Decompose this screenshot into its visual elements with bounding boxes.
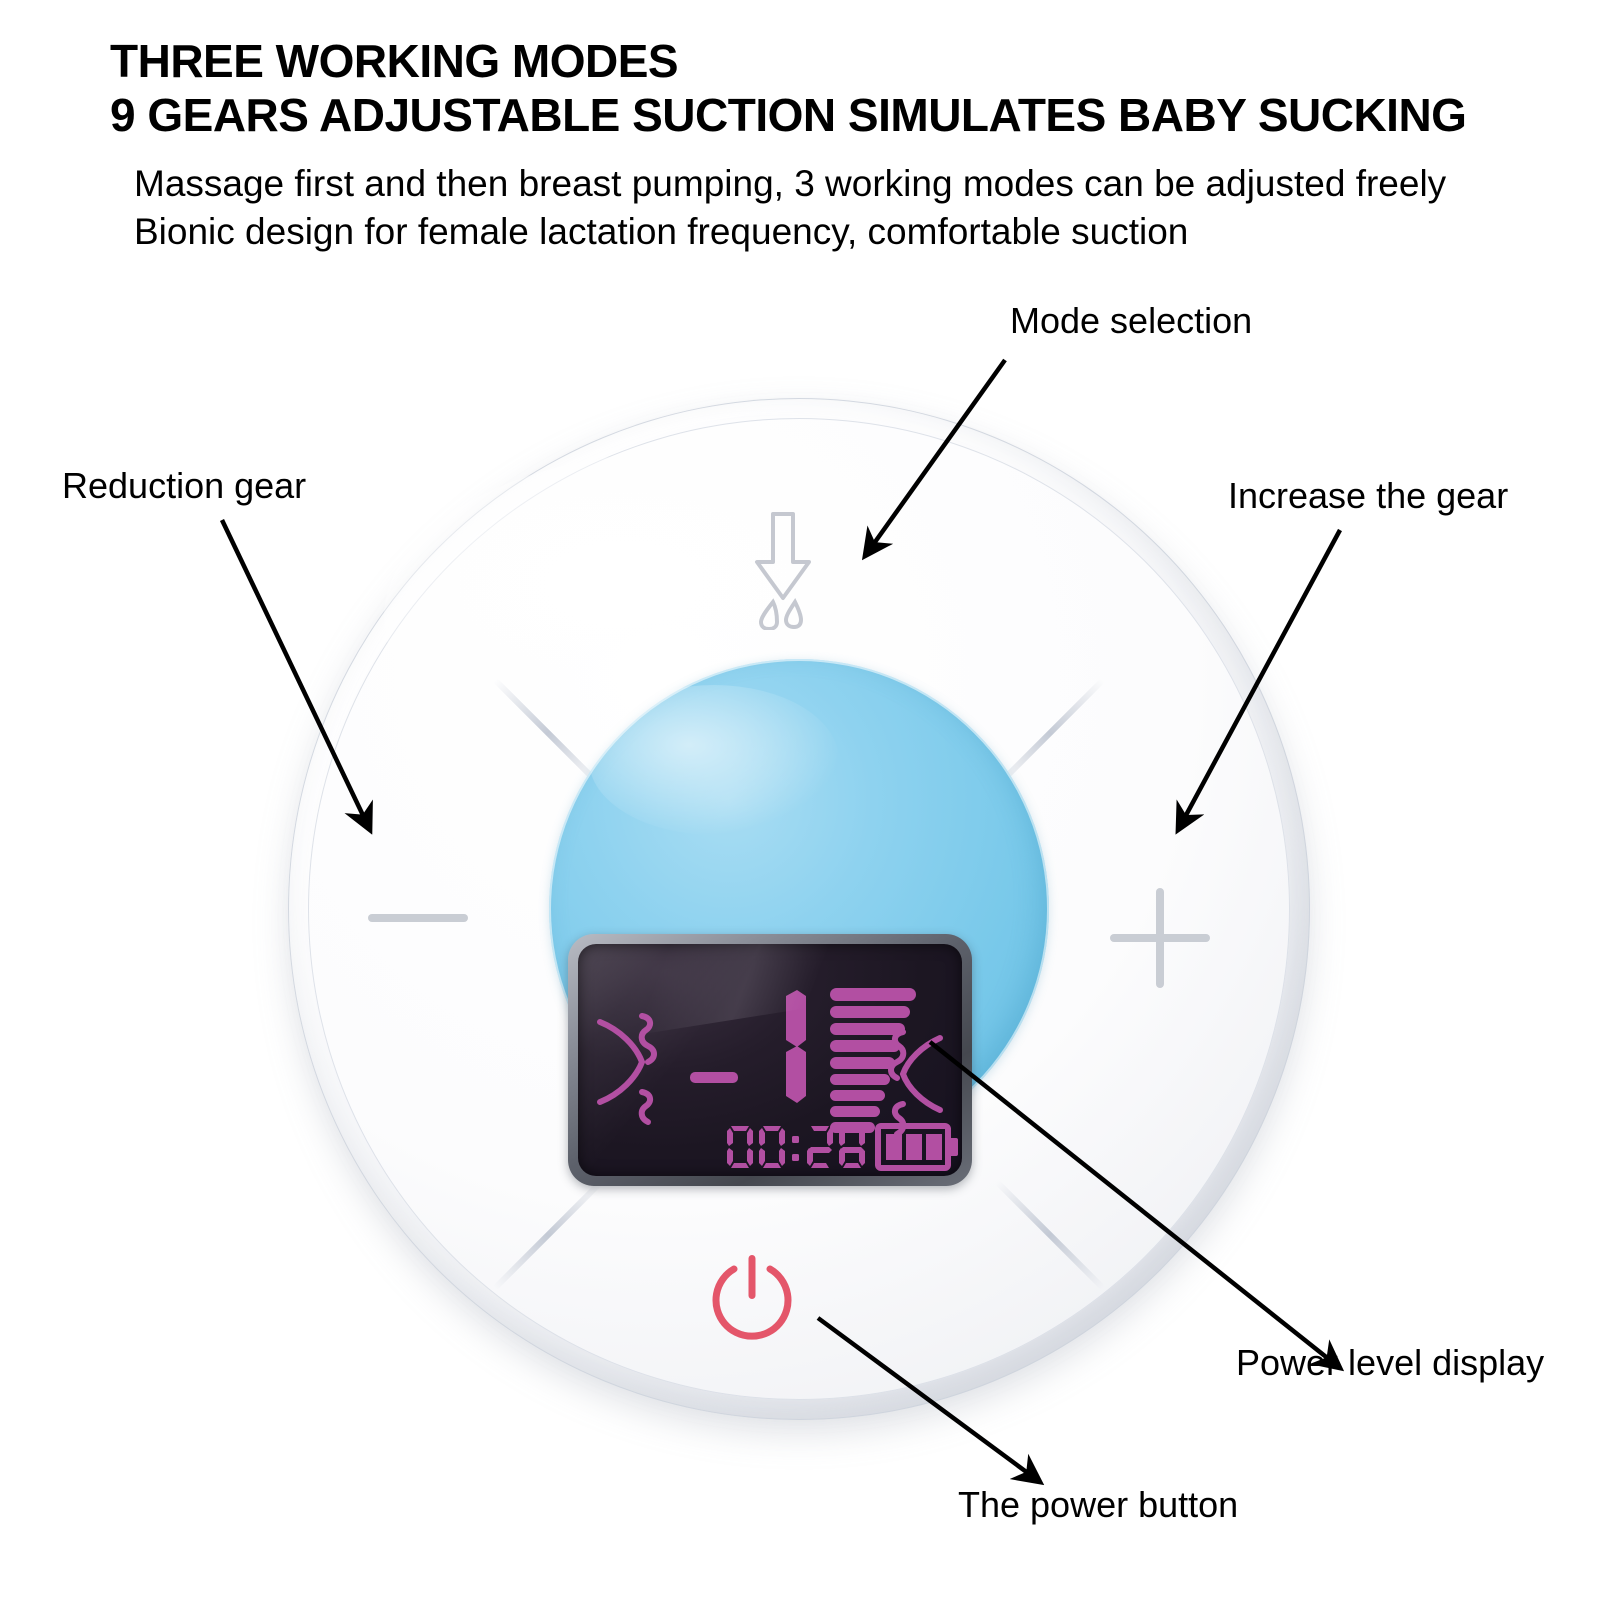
power-button[interactable] bbox=[700, 1243, 804, 1347]
mode-dash-segment bbox=[690, 1072, 738, 1083]
subheading-line-2: Bionic design for female lactation frequ… bbox=[134, 208, 1554, 256]
minus-icon bbox=[358, 898, 478, 938]
mode-droplet-arrow-icon bbox=[735, 510, 831, 630]
mode-select-button[interactable] bbox=[735, 510, 831, 630]
label-mode-selection: Mode selection bbox=[1010, 300, 1252, 342]
power-icon bbox=[700, 1243, 804, 1347]
timer-readout bbox=[727, 1126, 865, 1168]
lcd-content bbox=[578, 944, 962, 1176]
heading-line-2: 9 GEARS ADJUSTABLE SUCTION SIMULATES BAB… bbox=[110, 88, 1550, 142]
mode-digit-1 bbox=[786, 990, 806, 1103]
label-power-button: The power button bbox=[958, 1484, 1238, 1526]
plus-button[interactable] bbox=[1100, 878, 1220, 998]
breast-massage-icon bbox=[600, 1016, 654, 1122]
lcd-bezel bbox=[568, 934, 972, 1186]
subheading-block: Massage first and then breast pumping, 3… bbox=[134, 160, 1554, 256]
breast-pump-icon bbox=[891, 1032, 940, 1134]
label-power-level-display: Power level display bbox=[1236, 1342, 1544, 1384]
breast-pump-device bbox=[288, 398, 1310, 1420]
disc-highlight bbox=[589, 685, 839, 835]
battery-indicator bbox=[878, 1126, 958, 1168]
heading-line-1: THREE WORKING MODES bbox=[110, 34, 1550, 88]
infographic-canvas: THREE WORKING MODES 9 GEARS ADJUSTABLE S… bbox=[0, 0, 1601, 1601]
minus-button[interactable] bbox=[358, 898, 478, 938]
subheading-line-1: Massage first and then breast pumping, 3… bbox=[134, 160, 1554, 208]
heading-block: THREE WORKING MODES 9 GEARS ADJUSTABLE S… bbox=[110, 34, 1550, 142]
lcd-display bbox=[578, 944, 962, 1176]
label-reduction-gear: Reduction gear bbox=[62, 465, 306, 507]
plus-icon bbox=[1100, 878, 1220, 998]
label-increase-gear: Increase the gear bbox=[1228, 475, 1508, 517]
